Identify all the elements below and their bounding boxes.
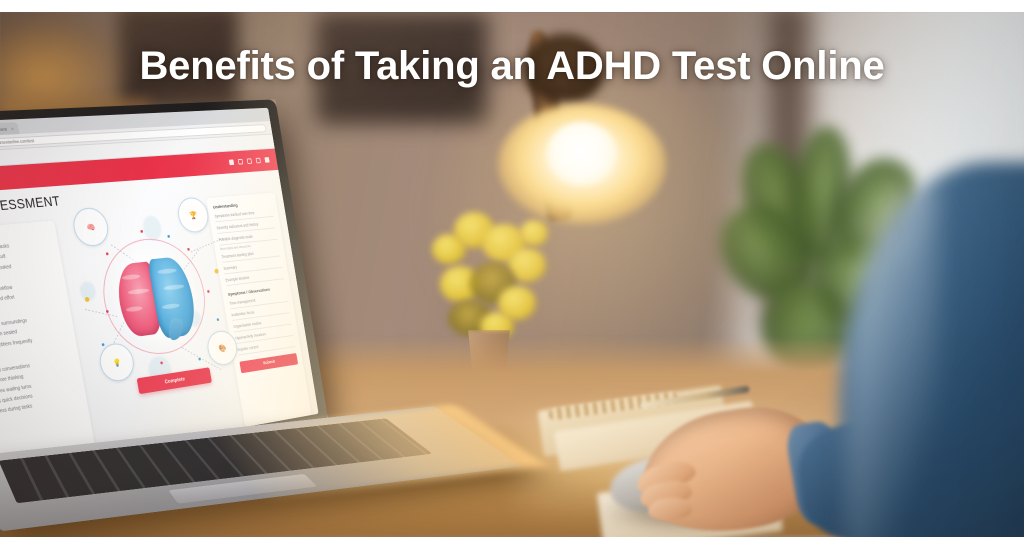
bell-icon[interactable] bbox=[247, 158, 252, 164]
option-label: Avoids sustained effort bbox=[0, 295, 15, 306]
option-label: Finds listening difficult bbox=[0, 254, 6, 264]
brain-network-bubble[interactable]: 🧠 bbox=[70, 207, 111, 248]
address-value: https://www.adhdassessmentonline.com/tes… bbox=[0, 138, 34, 147]
panel-section-title: Understanding bbox=[213, 200, 272, 209]
browser-tab-label: Attention Assessment bbox=[0, 126, 7, 133]
submit-button[interactable]: Submit bbox=[239, 353, 298, 373]
question-group: Impulsivity Interrupts conversations Act… bbox=[0, 348, 80, 418]
brain-icon: 🧠 bbox=[86, 222, 96, 231]
close-icon[interactable]: × bbox=[11, 126, 14, 131]
lightbulb-icon: 💡 bbox=[112, 358, 122, 368]
profile-icon[interactable] bbox=[238, 159, 243, 165]
trophy-icon: 🏆 bbox=[189, 211, 198, 220]
trophy-bubble[interactable]: 🏆 bbox=[175, 196, 210, 233]
site-header-icons bbox=[229, 157, 270, 165]
lightbulb-bubble[interactable]: 💡 bbox=[97, 341, 137, 383]
palette-icon: 🎨 bbox=[218, 343, 227, 352]
banner-image: Browser × Attention Assessment × bbox=[0, 0, 1024, 559]
panel-field[interactable]: Example timeline bbox=[225, 271, 284, 286]
alert-icon[interactable] bbox=[229, 159, 234, 165]
question-group: Assessment Distracted by surroundings Fi… bbox=[0, 304, 69, 353]
option-label: Detail errors overlooked bbox=[0, 264, 12, 275]
lamp-bulb bbox=[546, 122, 618, 186]
menu-icon[interactable] bbox=[264, 157, 269, 163]
laptop: Browser × Attention Assessment × bbox=[0, 118, 446, 537]
grid-icon[interactable] bbox=[256, 158, 261, 164]
banner-title: Benefits of Taking an ADHD Test Online bbox=[0, 44, 1024, 89]
page-title: ADHD ASSESSMENT bbox=[0, 194, 61, 219]
laptop-screen: Browser × Attention Assessment × bbox=[0, 108, 319, 477]
option-label: Avoids focusing on tasks bbox=[0, 243, 10, 254]
question-group: Attention Avoids focusing on tasks Finds… bbox=[0, 230, 61, 307]
option-label: Talks over others frequently bbox=[0, 338, 33, 351]
hero-photograph: Browser × Attention Assessment × bbox=[0, 12, 1024, 537]
option-label: Restless during tasks bbox=[0, 404, 33, 417]
option-label: Disorganised workflow bbox=[0, 285, 13, 296]
split-brain-illustration bbox=[112, 250, 199, 344]
